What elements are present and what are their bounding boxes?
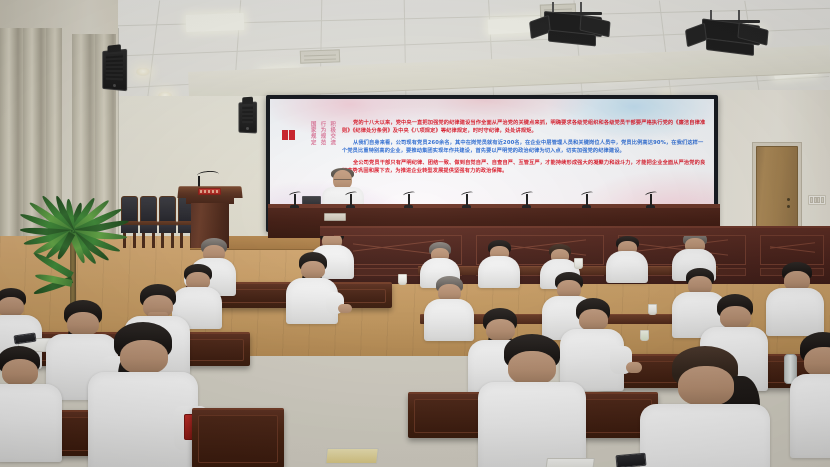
ceiling-light-panel [186, 13, 245, 32]
table-microphone [408, 194, 410, 205]
audience-member [640, 346, 770, 467]
glasses-icon [334, 179, 351, 183]
vertical-title-line: 积极交流 [329, 121, 336, 146]
table-microphone [586, 194, 588, 205]
notebook [325, 448, 379, 464]
speaker-led [246, 127, 249, 130]
audience-member [606, 236, 648, 282]
party-emblem-icon [282, 130, 295, 140]
speaker-bracket [107, 44, 121, 52]
audience-area: 党 [0, 236, 830, 467]
speaker-grille [242, 106, 253, 123]
slide-paragraph: 从我们自身来看，公司现有党员260余名，其中在岗党员就有近200名，在企业中层管… [342, 139, 706, 156]
paper-cup [648, 304, 657, 315]
paper-cup [398, 274, 407, 285]
audience-member [88, 322, 198, 467]
table-microphone [526, 194, 528, 205]
microphone-base [346, 205, 355, 208]
door-lock-icon [787, 205, 790, 208]
vertical-title-line: 国家规定 [309, 121, 316, 146]
microphone-base [522, 205, 531, 208]
audience-member [286, 252, 338, 322]
light-switch[interactable] [808, 195, 826, 205]
vertical-title-line: 行为规范 [319, 121, 326, 146]
table-microphone [650, 194, 652, 205]
wall-speaker [102, 49, 127, 91]
air-vent [300, 49, 340, 63]
ceiling-light-fixture [680, 10, 776, 68]
notebook [545, 458, 595, 467]
recessed-downlight [136, 68, 150, 76]
podium-nameplate [198, 188, 221, 195]
speaker-grille [106, 53, 123, 80]
slide-paragraph: 党的十八大以来，党中央一直把加强党的纪律建设当作全面从严治党的关键点来抓，明确要… [342, 119, 706, 136]
paper-cup [574, 258, 583, 269]
conference-room-photo: 国家规定 行为规范 积极交流 党的十八大以来，党中央一直把加强党的纪律建设当作全… [0, 0, 830, 467]
audience-member [478, 334, 586, 467]
microphone-base [582, 205, 591, 208]
audience-member [766, 262, 824, 332]
wall-speaker [238, 102, 257, 134]
door-handle-icon [787, 198, 790, 201]
audience-member [478, 240, 520, 286]
microphone-base [404, 205, 413, 208]
table-microphone [294, 194, 296, 205]
audience-member [0, 346, 60, 458]
ceiling-light-fixture [522, 2, 618, 60]
table-microphone [350, 194, 352, 205]
microphone-base [646, 205, 655, 208]
slide-paragraph: 全公司党员干部只有严明纪律、团结一致、做到自觉自严、自查自严、互管互严，才能持续… [342, 159, 706, 176]
audience-member [424, 276, 474, 338]
slide-vertical-title: 国家规定 行为规范 积极交流 [309, 121, 335, 146]
speaker-nameplate [324, 213, 346, 221]
microphone-base [290, 205, 299, 208]
speaker-led [113, 84, 116, 87]
microphone-base [462, 205, 471, 208]
smartphone [615, 453, 646, 467]
bench-row [192, 408, 284, 467]
table-microphone [466, 194, 468, 205]
speaker-bracket [243, 97, 253, 105]
audience-member [790, 332, 830, 452]
paper-cup [640, 330, 649, 341]
